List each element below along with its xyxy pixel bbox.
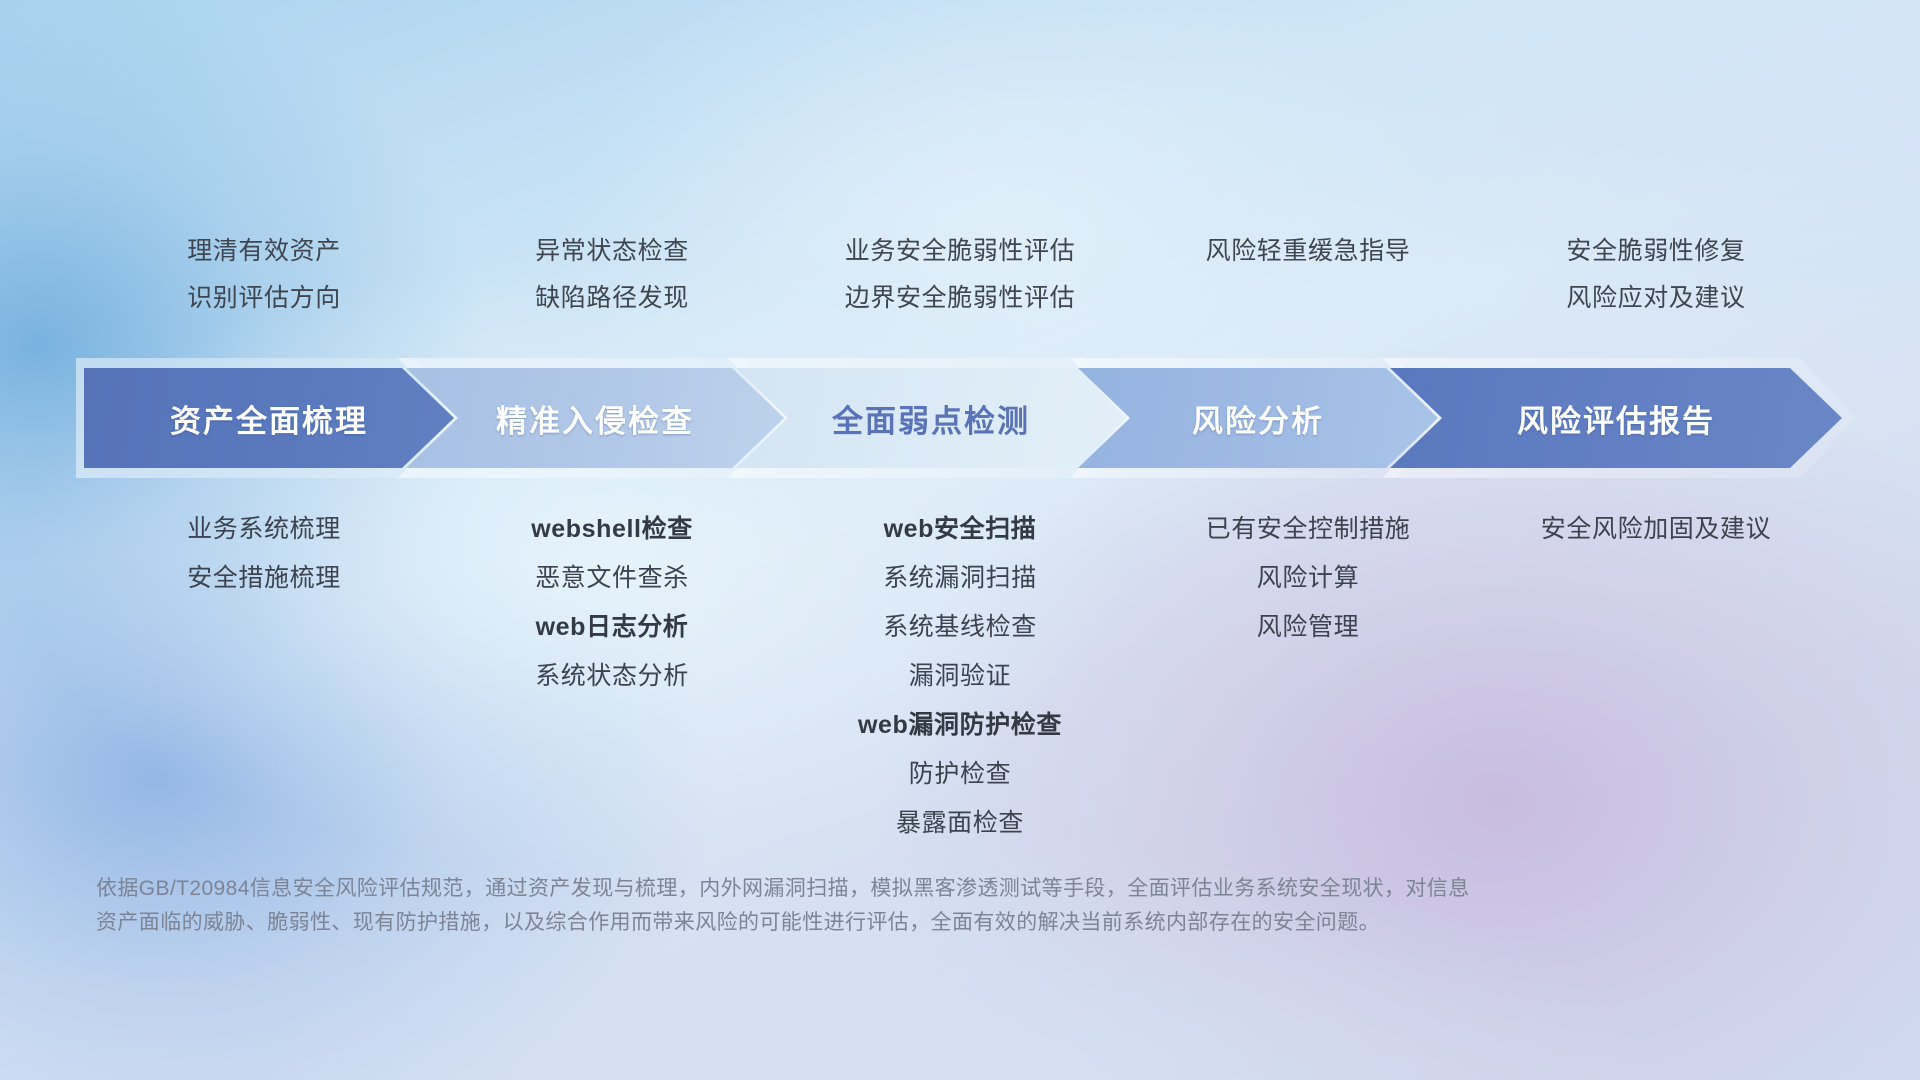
detail-item: 风险计算 (1257, 554, 1359, 603)
detail-column-intrusion-check: webshell检查 恶意文件查杀 web日志分析 系统状态分析 (438, 505, 786, 701)
detail-item: 系统漏洞扫描 (883, 554, 1037, 603)
detail-item: 防护检查 (909, 750, 1011, 799)
detail-item: 业务系统梳理 (187, 505, 341, 554)
footer-line-2: 资产面临的威胁、脆弱性、现有防护措施，以及综合作用而带来风险的可能性进行评估，全… (96, 906, 1616, 940)
detail-item: 系统状态分析 (535, 652, 689, 701)
top-note: 风险应对及建议 (1566, 275, 1745, 322)
top-note: 风险轻重缓急指导 (1206, 228, 1411, 275)
top-note: 安全脆弱性修复 (1566, 228, 1745, 275)
footer-line-1: 依据GB/T20984信息安全风险评估规范，通过资产发现与梳理，内外网漏洞扫描，… (96, 872, 1616, 906)
process-step-weakness-detection[interactable]: 全面弱点检测 (736, 368, 1126, 468)
slide-content: 理清有效资产 识别评估方向 异常状态检查 缺陷路径发现 业务安全脆弱性评估 边界… (0, 0, 1920, 1080)
process-step-label: 风险分析 (1192, 396, 1324, 441)
top-notes-asset-inventory: 理清有效资产 识别评估方向 (90, 228, 438, 338)
process-step-intrusion-check[interactable]: 精准入侵检查 (406, 368, 784, 468)
top-notes-assessment-report: 安全脆弱性修复 风险应对及建议 (1482, 228, 1830, 338)
top-notes-row: 理清有效资产 识别评估方向 异常状态检查 缺陷路径发现 业务安全脆弱性评估 边界… (90, 228, 1830, 338)
process-step-label: 资产全面梳理 (170, 396, 368, 441)
process-step-label: 精准入侵检查 (496, 396, 694, 441)
top-notes-intrusion-check: 异常状态检查 缺陷路径发现 (438, 228, 786, 338)
detail-item: webshell检查 (531, 505, 693, 554)
detail-item: 系统基线检查 (883, 603, 1037, 652)
footer-description: 依据GB/T20984信息安全风险评估规范，通过资产发现与梳理，内外网漏洞扫描，… (96, 872, 1616, 940)
detail-item: 已有安全控制措施 (1206, 505, 1411, 554)
process-step-asset-inventory[interactable]: 资产全面梳理 (84, 368, 454, 468)
detail-item: web漏洞防护检查 (858, 701, 1062, 750)
detail-column-asset-inventory: 业务系统梳理 安全措施梳理 (90, 505, 438, 603)
detail-column-risk-analysis: 已有安全控制措施 风险计算 风险管理 (1134, 505, 1482, 652)
detail-item: 漏洞验证 (909, 652, 1011, 701)
top-note: 缺陷路径发现 (535, 275, 689, 322)
detail-item: 暴露面检查 (896, 799, 1024, 848)
top-notes-risk-analysis: 风险轻重缓急指导 (1134, 228, 1482, 338)
top-note: 业务安全脆弱性评估 (845, 228, 1075, 275)
detail-item: web安全扫描 (884, 505, 1037, 554)
detail-item: 安全风险加固及建议 (1541, 505, 1771, 554)
detail-items-row: 业务系统梳理 安全措施梳理 webshell检查 恶意文件查杀 web日志分析 … (90, 505, 1830, 848)
process-step-assessment-report[interactable]: 风险评估报告 (1390, 368, 1842, 468)
detail-item: 风险管理 (1257, 603, 1359, 652)
top-note: 识别评估方向 (187, 275, 341, 322)
top-note: 理清有效资产 (187, 228, 341, 275)
process-step-label: 风险评估报告 (1517, 396, 1715, 441)
detail-item: 恶意文件查杀 (535, 554, 689, 603)
process-step-label: 全面弱点检测 (832, 396, 1030, 441)
detail-column-assessment-report: 安全风险加固及建议 (1482, 505, 1830, 554)
detail-item: 安全措施梳理 (187, 554, 341, 603)
detail-column-weakness-detection: web安全扫描 系统漏洞扫描 系统基线检查 漏洞验证 web漏洞防护检查 防护检… (786, 505, 1134, 848)
top-notes-weakness-detection: 业务安全脆弱性评估 边界安全脆弱性评估 (786, 228, 1134, 338)
top-note: 边界安全脆弱性评估 (845, 275, 1075, 322)
detail-item: web日志分析 (536, 603, 689, 652)
top-note: 异常状态检查 (535, 228, 689, 275)
process-flow-band: 资产全面梳理 精准入侵检查 全面弱点检测 风险分析 风险评估报告 (84, 368, 1842, 468)
slide-canvas: 理清有效资产 识别评估方向 异常状态检查 缺陷路径发现 业务安全脆弱性评估 边界… (0, 0, 1920, 1080)
process-step-risk-analysis[interactable]: 风险分析 (1078, 368, 1438, 468)
